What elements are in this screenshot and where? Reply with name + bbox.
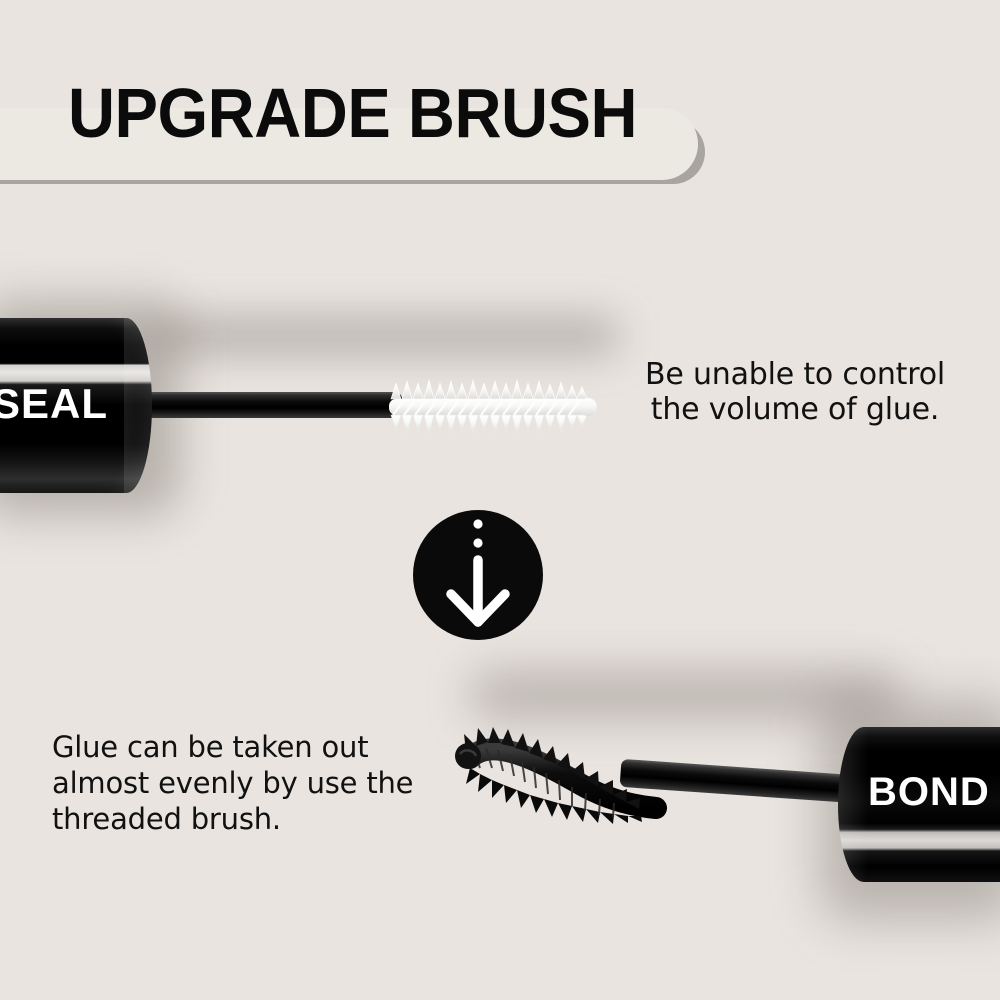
before-caption: Be unable to control the volume of glue. [600, 357, 990, 428]
before-caption-line-1: Be unable to control [600, 357, 990, 392]
promo-image-canvas: UPGRADE BRUSH [0, 0, 1000, 1000]
black-threaded-brush-icon [440, 710, 690, 830]
after-caption-line-3: threaded brush. [52, 802, 472, 838]
before-caption-line-2: the volume of glue. [600, 392, 990, 427]
after-caption-line-2: almost evenly by use the [52, 766, 472, 802]
white-spiral-brush-icon [385, 365, 600, 450]
seal-wand-rod [140, 392, 402, 418]
bond-product-label: BOND & [868, 772, 1000, 812]
down-arrow-icon [413, 510, 543, 640]
seal-wand-shadow [150, 318, 620, 354]
down-arrow-badge [413, 510, 543, 640]
page-title: UPGRADE BRUSH [68, 78, 637, 148]
seal-product-label: SEAL [0, 383, 108, 425]
after-caption: Glue can be taken out almost evenly by u… [52, 730, 472, 838]
after-caption-line-1: Glue can be taken out [52, 730, 472, 766]
